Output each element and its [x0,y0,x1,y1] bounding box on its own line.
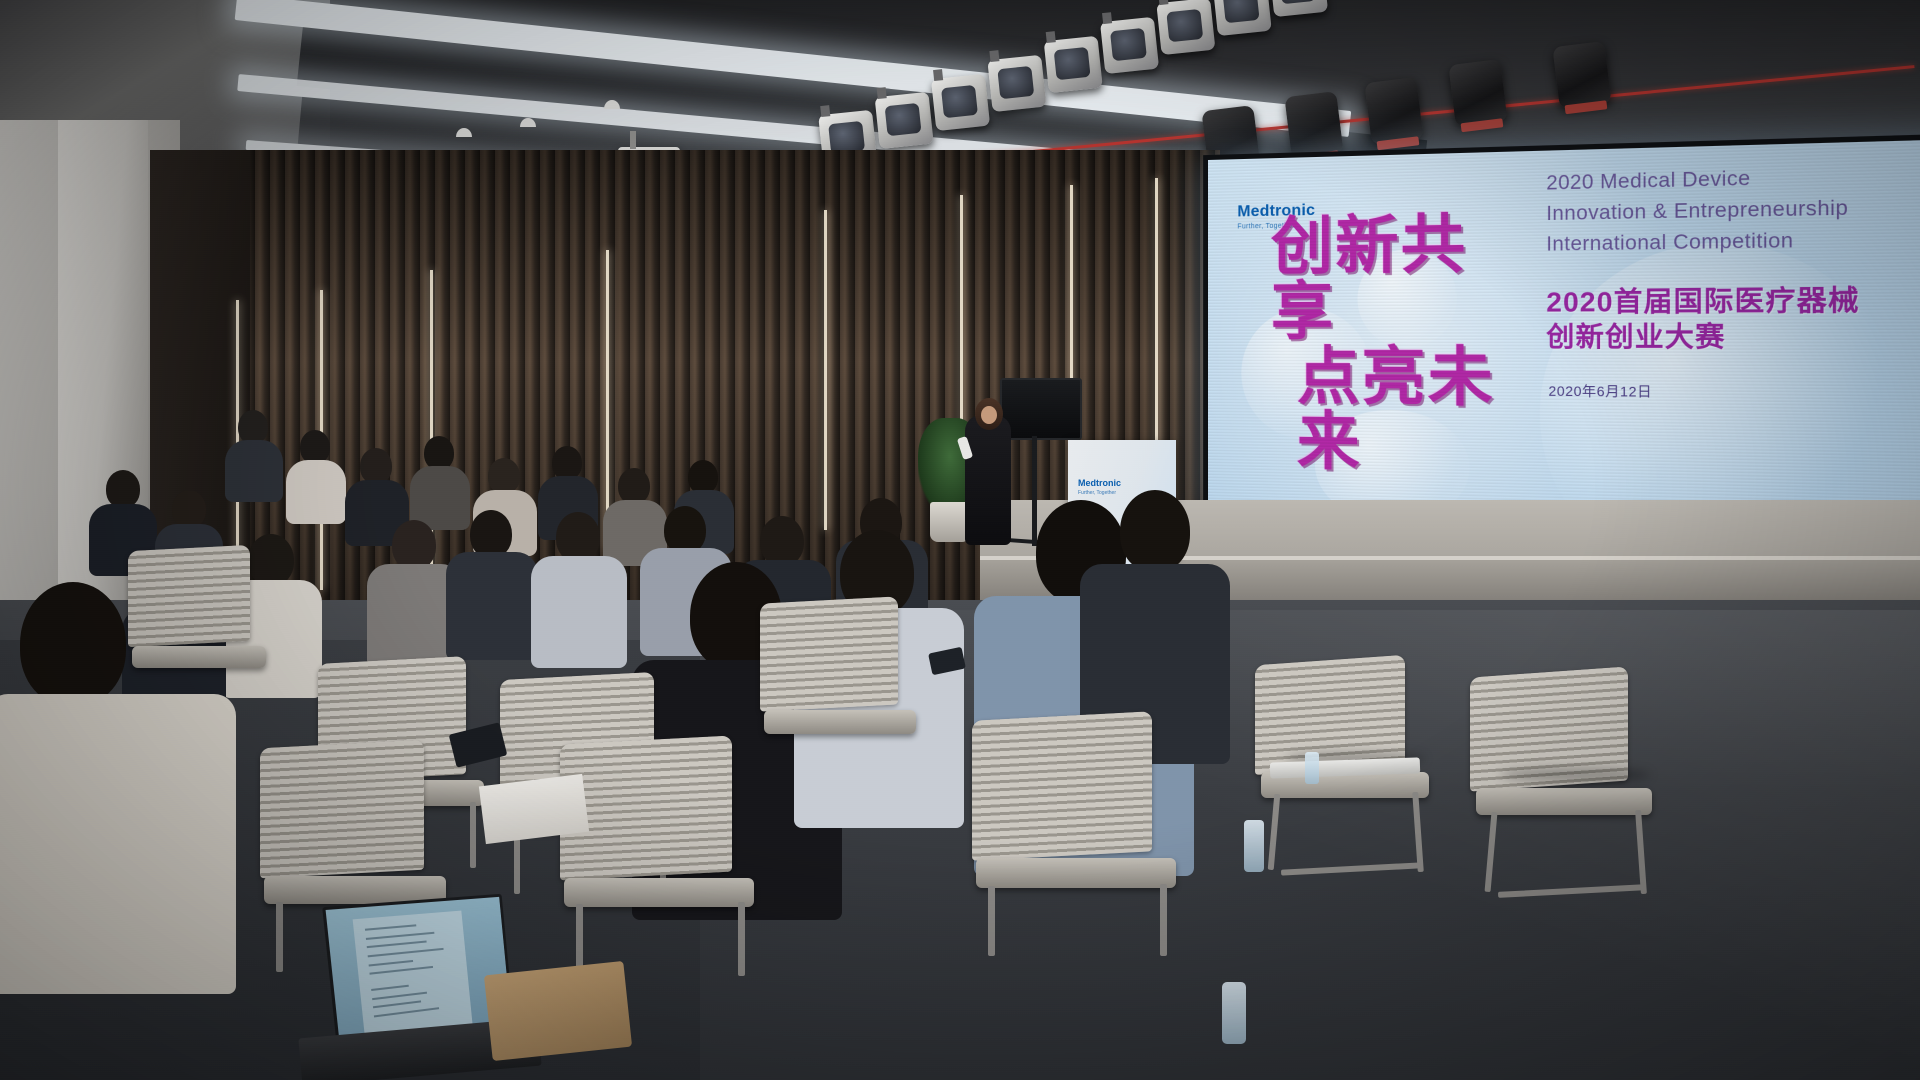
leather-folder [484,961,632,1061]
wall-light-strip-5 [824,210,827,530]
chair-shadow-2 [1500,768,1650,782]
track-light-icon-8 [1213,0,1272,36]
spotlight-icon-4 [1448,59,1507,127]
chair-audience-4 [560,740,770,980]
water-bottle-2 [1222,982,1246,1044]
track-light-icon-9 [1269,0,1328,17]
chair-audience-7 [760,600,930,790]
chair-audience-6 [128,548,278,718]
conference-room-photo: Medtronic Further, Together 创新共享 点亮未来 20… [0,0,1920,1080]
rollup-brand: Medtronic [1078,478,1121,488]
track-light-icon-4 [987,55,1046,112]
track-light-icon-7 [1156,0,1215,55]
track-light-icon-6 [1100,17,1159,74]
stage-monitor-screen [1000,378,1082,440]
led-stage-screen: Medtronic Further, Together 创新共享 点亮未来 20… [1208,138,1920,541]
spotlight-icon-5 [1552,41,1611,109]
rollup-tagline: Further, Together [1078,490,1116,496]
chair-audience-3 [972,716,1192,956]
track-light-icon-2 [875,92,934,149]
spotlight-icon-3 [1364,77,1423,145]
water-bottle-1 [1305,752,1319,784]
monitor-stand [1032,436,1037,546]
track-light-icon-3 [931,74,990,131]
track-light-icon-5 [1044,36,1103,93]
presenter-body [965,415,1011,545]
plant-pot [930,502,970,542]
wall-light-strip-4 [606,250,609,550]
screen-bezel [1203,133,1920,548]
presenter-face [981,406,997,424]
spotlight-icon-2 [1284,91,1343,159]
water-bottle-3 [1244,820,1264,872]
